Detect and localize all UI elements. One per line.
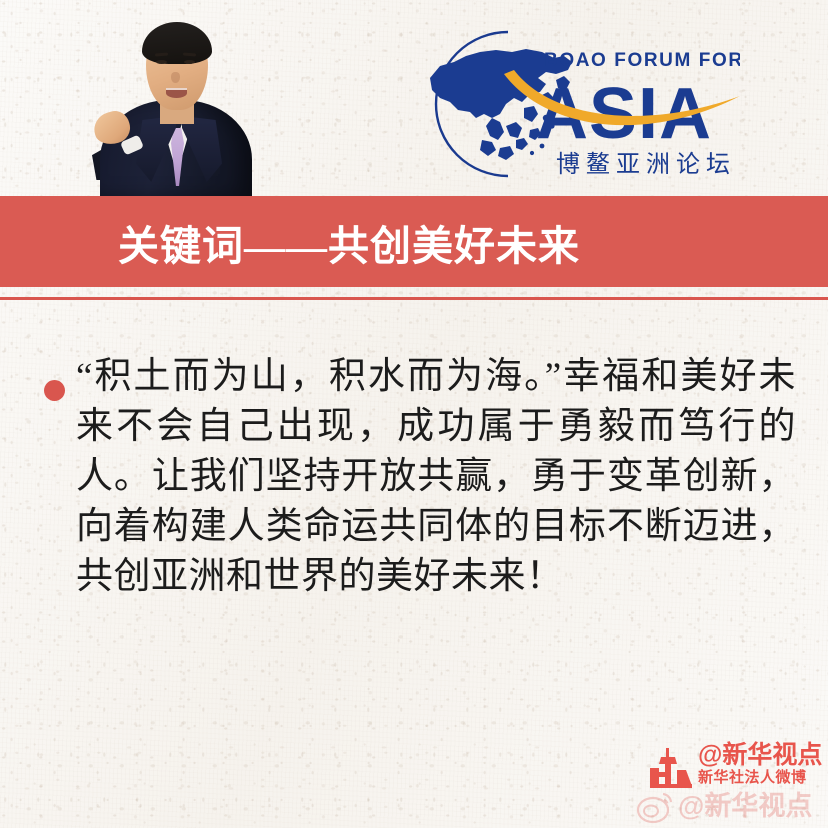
xi-jinping-portrait — [92, 2, 260, 196]
weibo-handle: @新华视点 — [678, 789, 812, 823]
logo-english-line: BOAO FORUM FOR — [544, 50, 740, 71]
portrait-nose — [171, 72, 180, 83]
portrait-mouth — [166, 88, 187, 98]
body-paragraph: “积土而为山，积水而为海。”幸福和美好未来不会自己出现，成功属于勇毅而笃行的人。… — [36, 352, 796, 602]
xinhua-handle: @新华视点 — [698, 742, 828, 769]
bullet-point-icon — [44, 380, 65, 401]
section-banner: 关键词——共创美好未来 — [0, 196, 828, 287]
boao-forum-logo: BOAO FORUM FOR ASIA 博鳌亚洲论坛 — [396, 22, 740, 182]
xinhua-watermark-text: @新华视点 新华社法人微博 — [698, 742, 828, 787]
header-zone: BOAO FORUM FOR ASIA 博鳌亚洲论坛 — [0, 0, 828, 196]
weibo-watermark: @新华视点 — [636, 788, 828, 828]
portrait-eye-left — [156, 60, 167, 64]
xinhua-subtitle: 新华社法人微博 — [698, 769, 828, 787]
body-block: “积土而为山，积水而为海。”幸福和美好未来不会自己出现，成功属于勇毅而笃行的人。… — [36, 352, 796, 602]
banner-title: 关键词——共创美好未来 — [118, 212, 580, 272]
portrait-hair — [142, 22, 212, 64]
xinhua-watermark: @新华视点 新华社法人微博 — [648, 742, 828, 794]
poster-canvas: BOAO FORUM FOR ASIA 博鳌亚洲论坛 关键词——共创美好未来 “… — [0, 0, 828, 828]
logo-chinese-name: 博鳌亚洲论坛 — [556, 151, 736, 178]
xinhua-emblem-icon — [648, 746, 694, 790]
portrait-eye-right — [184, 60, 195, 64]
weibo-eye-icon — [636, 790, 674, 824]
banner-underline-rule — [0, 297, 828, 300]
